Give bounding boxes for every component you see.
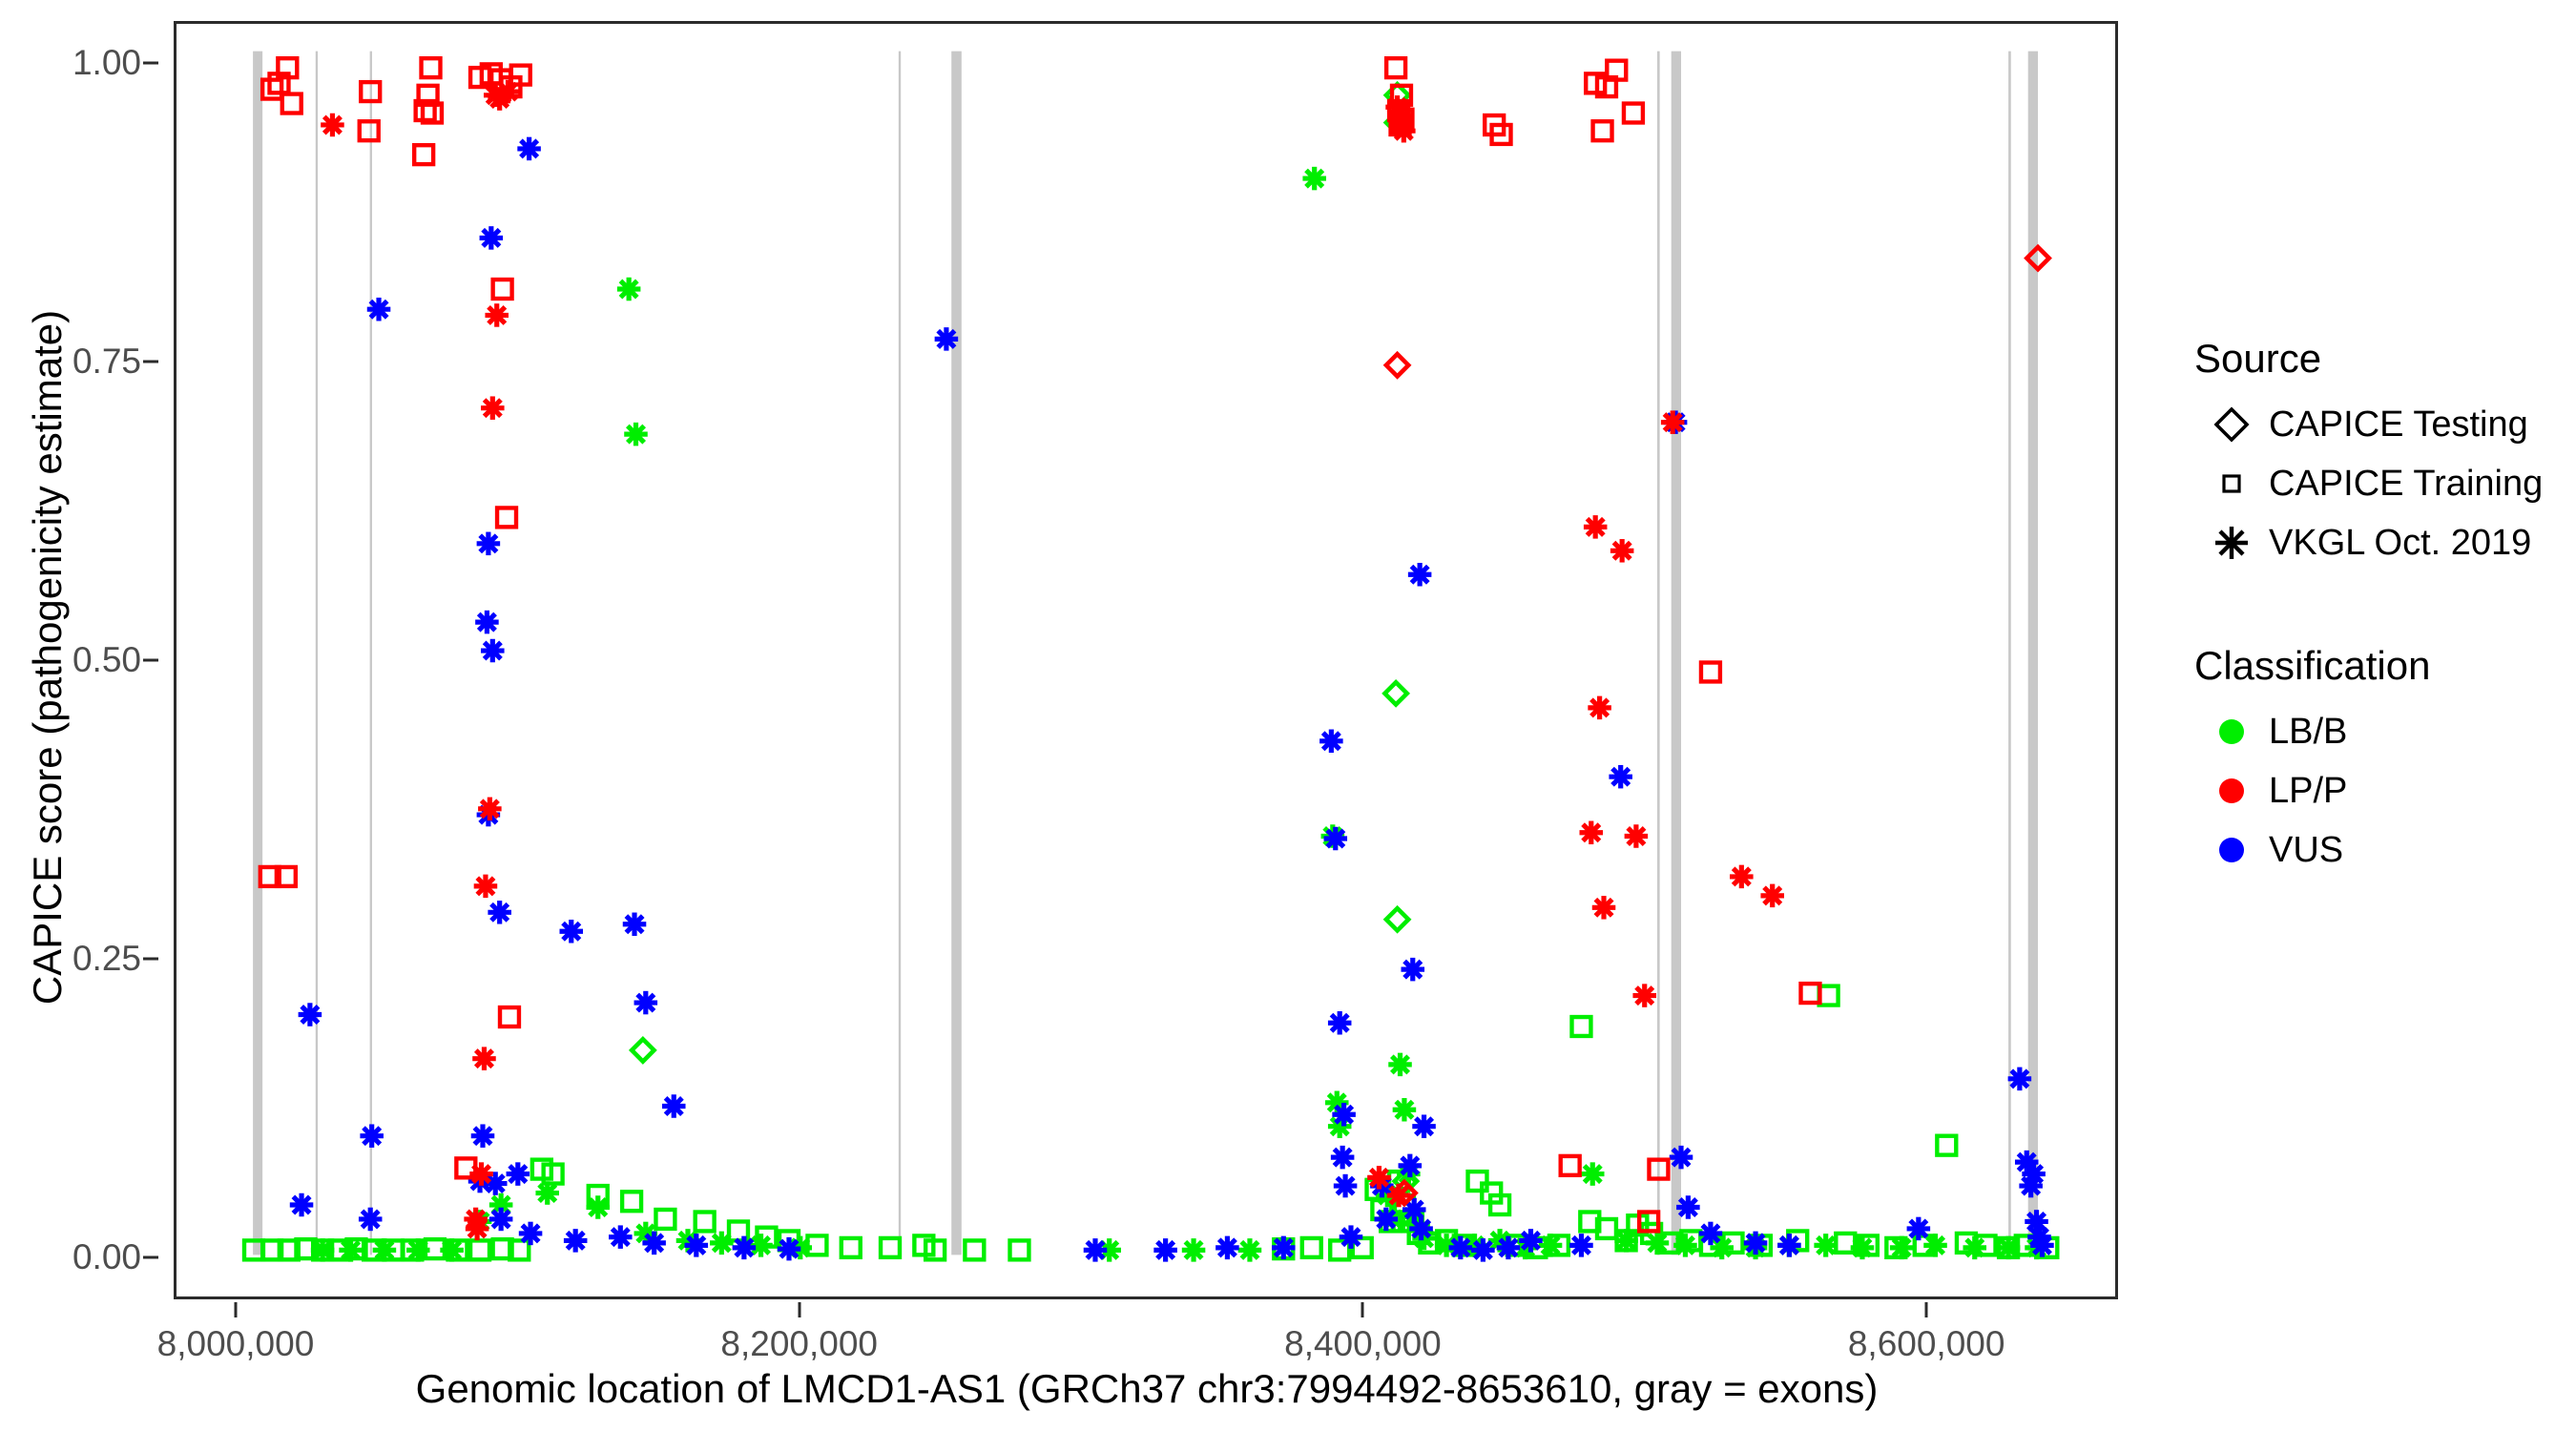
data-point (778, 1237, 801, 1260)
y-tick-label: 0.25 (73, 939, 141, 979)
data-point (1519, 1229, 1543, 1252)
data-point (1497, 1236, 1521, 1259)
data-point (339, 1238, 363, 1261)
data-point (1610, 539, 1634, 562)
data-point (367, 298, 391, 321)
data-point (1814, 1234, 1838, 1256)
data-point (586, 1195, 610, 1218)
data-point (662, 1094, 686, 1117)
data-point (1182, 1238, 1206, 1261)
data-point (1923, 1234, 1947, 1256)
x-axis-label: Genomic location of LMCD1-AS1 (GRCh37 ch… (0, 1366, 2294, 1412)
legend-key (2194, 766, 2269, 816)
data-point (311, 1238, 335, 1261)
data-point (2026, 247, 2048, 269)
data-point (617, 278, 641, 301)
y-tick-label: 0.50 (73, 640, 141, 680)
legend: SourceCAPICE TestingCAPICE TrainingVKGL … (2194, 336, 2576, 880)
legend-key (2194, 459, 2269, 508)
data-point (841, 1238, 861, 1257)
asterisk-icon (2207, 518, 2256, 568)
data-point (1699, 1222, 1723, 1245)
data-point (685, 1234, 709, 1256)
data-point (1588, 696, 1611, 719)
data-point (609, 1225, 633, 1248)
diamond-icon (2207, 400, 2256, 449)
data-point (1386, 58, 1405, 77)
legend-divider (2194, 572, 2576, 643)
data-point (1580, 821, 1604, 844)
square-icon (2207, 459, 2256, 508)
legend-label: VUS (2269, 830, 2343, 871)
data-point (1609, 765, 1632, 788)
data-point (1581, 1162, 1605, 1185)
data-point (1386, 908, 1408, 930)
data-point (1632, 984, 1656, 1006)
data-point (1331, 1146, 1355, 1169)
data-point (471, 1124, 495, 1147)
data-point (422, 58, 441, 77)
data-point (1937, 1136, 1956, 1155)
data-point (1624, 104, 1643, 123)
data-point (1393, 1098, 1417, 1121)
data-point (1468, 1172, 1487, 1191)
legend-key (2194, 825, 2269, 875)
legend-item-source-1[interactable]: CAPICE Training (2194, 454, 2576, 513)
chart-root: 0.000.250.500.751.00 CAPICE score (patho… (0, 0, 2576, 1431)
y-axis-ticks: 0.000.250.500.751.00 (0, 0, 141, 1431)
data-point (1539, 1234, 1563, 1256)
data-point (1408, 563, 1432, 586)
data-point (1215, 1236, 1239, 1259)
data-point (464, 1208, 488, 1231)
data-point (469, 1162, 493, 1185)
data-point (517, 137, 541, 160)
data-point (1661, 410, 1685, 433)
y-tick-mark (143, 61, 158, 64)
y-tick-mark (143, 360, 158, 363)
data-point (1614, 1229, 1638, 1252)
data-point (1593, 121, 1612, 140)
legend-title-classification: Classification (2194, 643, 2576, 689)
data-point (1670, 1146, 1693, 1169)
data-point (1777, 1234, 1801, 1256)
data-point (489, 1208, 513, 1231)
legend-key (2194, 518, 2269, 568)
data-point (1384, 682, 1406, 704)
data-point (1272, 1236, 1296, 1259)
data-point (1334, 1174, 1358, 1197)
legend-key (2194, 707, 2269, 757)
x-tick-mark (1361, 1302, 1364, 1317)
data-point (564, 1229, 588, 1252)
data-point (881, 1238, 900, 1257)
data-point (1153, 1238, 1177, 1261)
data-point (481, 639, 505, 662)
legend-key (2194, 400, 2269, 449)
series-LP-P-CAPICE-Testing (1386, 247, 2049, 1204)
y-axis-label: CAPICE score (pathogenicity estimate) (25, 18, 71, 1296)
series-VUS-VKGL-Oct--2019 (290, 137, 2054, 1262)
data-point (1760, 884, 1784, 907)
legend-item-source-2[interactable]: VKGL Oct. 2019 (2194, 513, 2576, 572)
data-point (290, 1193, 314, 1216)
data-point (1367, 1166, 1391, 1189)
y-tick-mark (143, 1256, 158, 1259)
legend-item-classification-1[interactable]: LP/P (2194, 761, 2576, 820)
data-point (478, 798, 502, 820)
data-point (1084, 1238, 1108, 1261)
data-point (1907, 1217, 1931, 1240)
data-point (965, 1240, 984, 1259)
data-point (1332, 1103, 1356, 1126)
data-point (2008, 1068, 2032, 1090)
data-point (2022, 1162, 2046, 1185)
y-tick-label: 0.75 (73, 342, 141, 382)
data-point (480, 226, 504, 249)
y-tick-label: 0.00 (73, 1237, 141, 1277)
data-point (493, 280, 512, 299)
data-point (535, 1181, 559, 1204)
data-point (359, 1208, 383, 1231)
y-tick-mark (143, 659, 158, 662)
data-point (481, 396, 505, 419)
data-point (477, 532, 501, 555)
data-point (935, 327, 959, 350)
data-point (475, 611, 499, 633)
data-point (1340, 1225, 1363, 1248)
x-tick-mark (234, 1302, 237, 1317)
data-point (1584, 515, 1608, 538)
data-point (634, 991, 658, 1014)
data-point (1412, 1114, 1436, 1137)
data-point (733, 1236, 757, 1259)
data-point (696, 1213, 715, 1232)
data-point (1890, 1236, 1914, 1259)
data-point (1592, 896, 1616, 919)
legend-item-classification-0[interactable]: LB/B (2194, 702, 2576, 761)
data-point (360, 1124, 384, 1147)
data-point (474, 875, 498, 898)
data-point (1744, 1232, 1768, 1255)
data-point (1730, 865, 1754, 888)
data-point (1399, 1154, 1423, 1177)
data-point (642, 1232, 666, 1255)
data-point (1851, 1236, 1875, 1259)
legend-label: CAPICE Training (2269, 464, 2543, 505)
data-point (1319, 730, 1343, 753)
legend-label: LB/B (2269, 712, 2347, 753)
legend-title-source: Source (2194, 336, 2576, 382)
data-point (406, 1238, 430, 1261)
data-point (1471, 1238, 1495, 1261)
y-tick-mark (143, 958, 158, 961)
legend-item-classification-2[interactable]: VUS (2194, 820, 2576, 880)
data-point (1010, 1240, 1029, 1259)
data-point (321, 114, 344, 136)
legend-label: LP/P (2269, 771, 2347, 812)
circle-icon (2207, 825, 2256, 875)
data-point (1302, 1238, 1321, 1257)
plot-area (177, 24, 2115, 1296)
data-point (1402, 958, 1425, 981)
circle-icon (2207, 707, 2256, 757)
x-tick-label: 8,400,000 (1284, 1324, 1442, 1364)
legend-label: CAPICE Testing (2269, 404, 2528, 446)
x-tick-label: 8,600,000 (1848, 1324, 2005, 1364)
data-point (1571, 1017, 1590, 1036)
data-point (2030, 1234, 2054, 1256)
data-point (1649, 1160, 1668, 1179)
plot-panel (174, 21, 2118, 1299)
data-point (710, 1232, 734, 1255)
data-point (559, 920, 583, 943)
data-point (440, 1238, 464, 1261)
data-point (1238, 1238, 1262, 1261)
y-tick-label: 1.00 (73, 43, 141, 83)
circle-icon (2207, 766, 2256, 816)
data-point (360, 121, 379, 140)
data-point (1392, 119, 1416, 142)
data-point (1963, 1236, 1986, 1259)
data-point (497, 508, 516, 527)
data-point (1701, 663, 1720, 682)
data-point (262, 80, 281, 99)
data-point (632, 1039, 654, 1061)
data-point (1409, 1217, 1433, 1240)
legend-label: VKGL Oct. 2019 (2269, 523, 2531, 564)
data-point (1388, 1053, 1412, 1076)
x-tick-label: 8,200,000 (720, 1324, 878, 1364)
data-point (1997, 1236, 2021, 1259)
data-point (361, 82, 380, 101)
data-point (282, 94, 301, 114)
data-point (1328, 1011, 1352, 1034)
data-point (1569, 1234, 1593, 1256)
data-point (470, 1240, 489, 1259)
x-tick-mark (1925, 1302, 1928, 1317)
data-point (496, 80, 520, 103)
data-point (485, 303, 509, 326)
series-LB-B-VKGL-Oct--2019 (311, 167, 2048, 1262)
data-points-layer (177, 24, 2115, 1296)
data-point (1449, 1236, 1473, 1259)
data-point (1324, 827, 1348, 850)
data-point (622, 1192, 641, 1211)
data-point (655, 1210, 675, 1229)
data-point (1673, 1234, 1697, 1256)
data-point (299, 1003, 322, 1026)
data-point (519, 1222, 543, 1245)
x-tick-label: 8,000,000 (157, 1324, 315, 1364)
x-tick-mark (798, 1302, 800, 1317)
data-point (1646, 1232, 1670, 1255)
data-point (507, 1162, 530, 1185)
data-point (500, 1007, 519, 1027)
data-point (472, 1047, 496, 1069)
data-point (1676, 1195, 1700, 1218)
data-point (373, 1238, 397, 1261)
data-point (414, 145, 433, 164)
series-LB-B-CAPICE-Testing (632, 84, 1417, 1192)
data-point (623, 913, 647, 936)
data-point (1561, 1156, 1580, 1175)
data-point (624, 423, 648, 446)
data-point (1375, 1208, 1399, 1231)
data-point (1302, 167, 1326, 190)
data-point (488, 901, 511, 923)
series-LP-P-VKGL-Oct--2019 (321, 80, 1784, 1240)
data-point (1386, 354, 1408, 376)
legend-item-source-0[interactable]: CAPICE Testing (2194, 395, 2576, 454)
data-point (1625, 824, 1649, 847)
